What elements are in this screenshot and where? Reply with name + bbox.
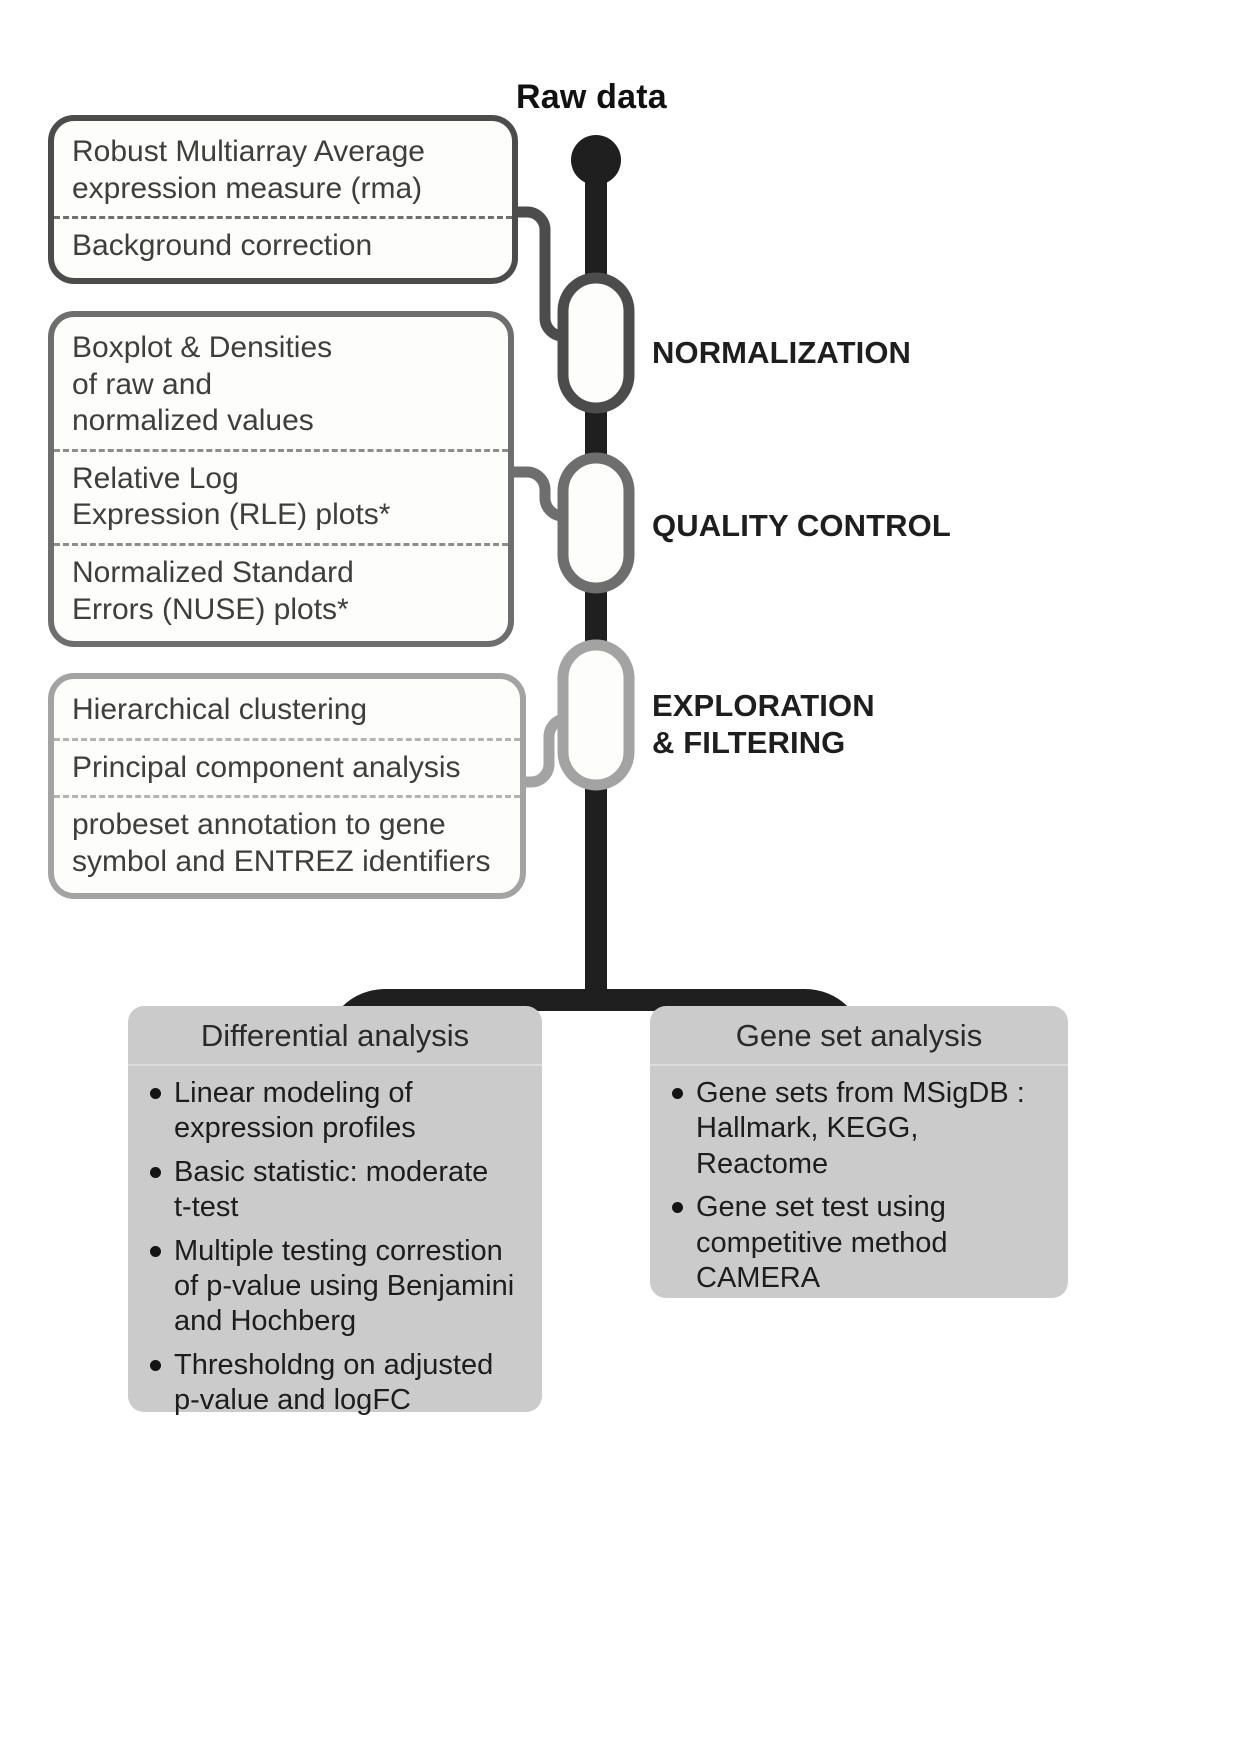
workflow-diagram: Raw data Robust Multiarray Average expre…	[0, 0, 1240, 1753]
stage-item: Principal component analysis	[54, 738, 520, 796]
list-item: Thresholdng on adjusted p-value and logF…	[144, 1348, 528, 1419]
list-item: Linear modeling of expression profiles	[144, 1076, 528, 1147]
panel-bullet-list: Gene sets from MSigDB : Hallmark, KEGG, …	[650, 1066, 1068, 1320]
output-panel-differential-analysis: Differential analysis Linear modeling of…	[128, 1006, 542, 1412]
stage-item: Hierarchical clustering	[54, 683, 520, 738]
stage-label-quality-control: QUALITY CONTROL	[652, 508, 951, 545]
stage-item: probeset annotation to gene symbol and E…	[54, 795, 520, 889]
stage-item: Relative Log Expression (RLE) plots*	[54, 449, 508, 543]
capsule-exploration	[563, 645, 629, 785]
list-item: Basic statistic: moderate t-test	[144, 1155, 528, 1226]
stage-label-exploration: EXPLORATION & FILTERING	[652, 688, 875, 761]
output-panel-gene-set-analysis: Gene set analysis Gene sets from MSigDB …	[650, 1006, 1068, 1298]
stage-item: Boxplot & Densities of raw and normalize…	[54, 321, 508, 449]
list-item: Gene sets from MSigDB : Hallmark, KEGG, …	[666, 1076, 1054, 1182]
connector-normalization	[512, 212, 563, 336]
capsule-normalization	[563, 278, 629, 408]
panel-title: Differential analysis	[128, 1006, 542, 1066]
stage-card-exploration: Hierarchical clustering Principal compon…	[48, 673, 526, 899]
connector-exploration	[520, 719, 563, 782]
list-item: Multiple testing correstion of p-value u…	[144, 1234, 528, 1340]
panel-bullet-list: Linear modeling of expression profiles B…	[128, 1066, 542, 1442]
stage-item: Background correction	[54, 216, 512, 274]
raw-data-node	[571, 135, 621, 185]
stage-card-normalization: Robust Multiarray Average expression mea…	[48, 115, 518, 284]
connector-quality-control	[512, 472, 563, 516]
page-title: Raw data	[516, 78, 667, 117]
list-item: Gene set test using competitive method C…	[666, 1190, 1054, 1296]
stage-label-normalization: NORMALIZATION	[652, 335, 911, 372]
panel-title: Gene set analysis	[650, 1006, 1068, 1066]
capsule-quality-control	[563, 458, 629, 588]
stage-card-quality-control: Boxplot & Densities of raw and normalize…	[48, 311, 514, 647]
stage-item: Robust Multiarray Average expression mea…	[54, 125, 512, 216]
stage-item: Normalized Standard Errors (NUSE) plots*	[54, 543, 508, 637]
